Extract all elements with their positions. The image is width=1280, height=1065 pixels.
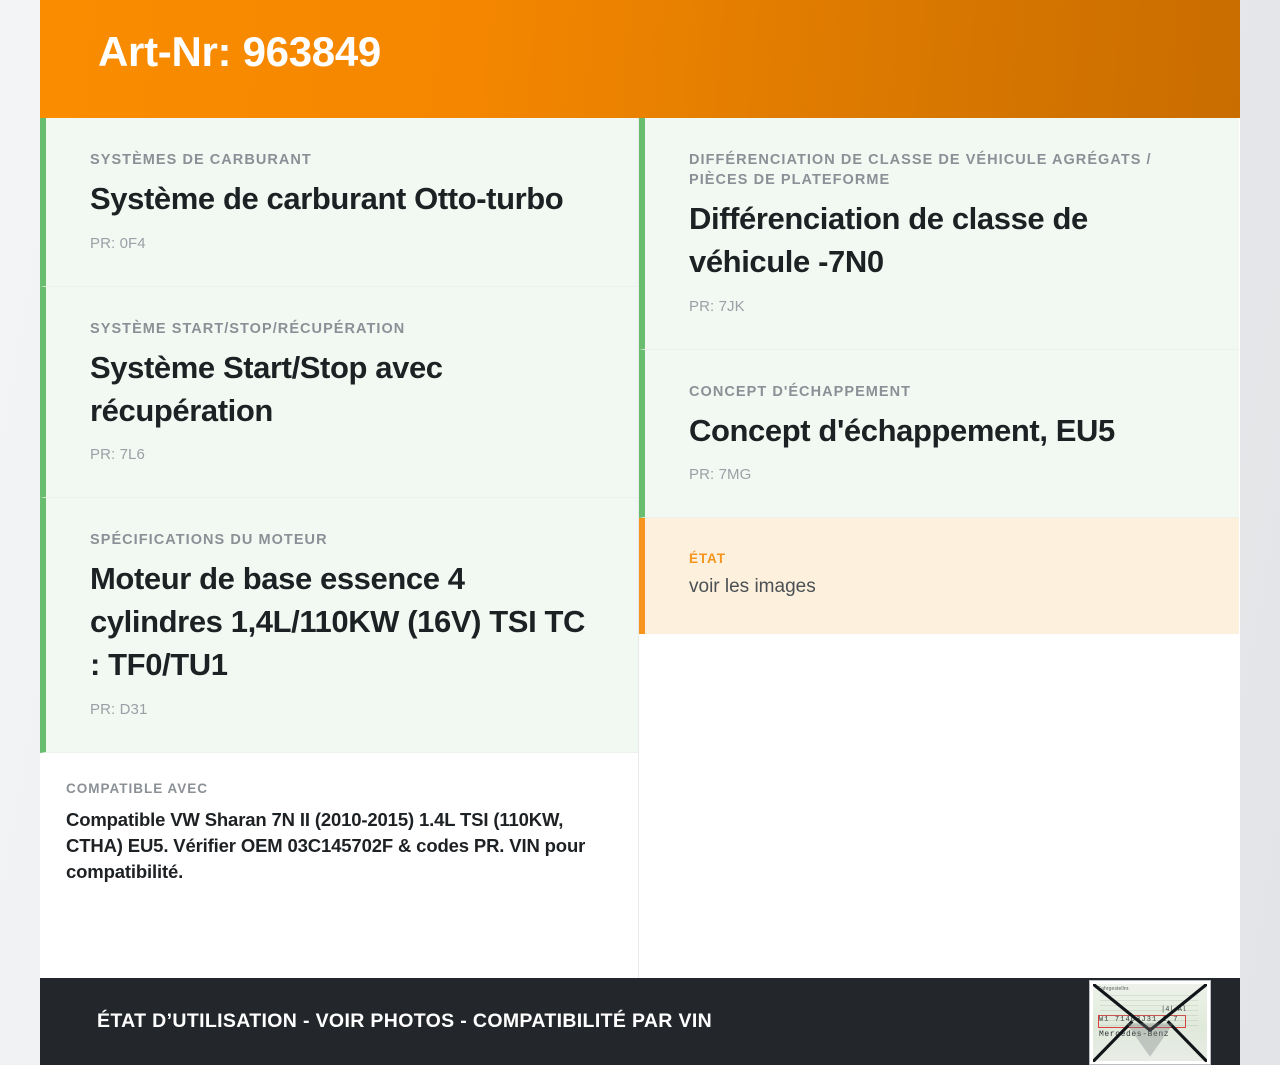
spec-card[interactable]: SYSTÈMES DE CARBURANT Système de carbura… bbox=[40, 118, 638, 287]
vin-field-label: Fahrgestellnr. bbox=[1098, 986, 1130, 992]
compatibility-kicker: COMPATIBLE AVEC bbox=[66, 781, 594, 796]
spec-card-title: Système Start/Stop avec récupération bbox=[90, 347, 594, 433]
footer-notice: ÉTAT D’UTILISATION - VOIR PHOTOS - COMPA… bbox=[97, 1010, 712, 1033]
compatibility-section: COMPATIBLE AVEC Compatible VW Sharan 7N … bbox=[40, 753, 638, 916]
vin-highlight-box bbox=[1098, 1015, 1186, 1028]
spec-card-kicker: SYSTÈME START/STOP/RÉCUPÉRATION bbox=[90, 319, 594, 339]
spec-columns: SYSTÈMES DE CARBURANT Système de carbura… bbox=[40, 118, 1240, 978]
condition-card[interactable]: ÉTAT voir les images bbox=[639, 518, 1239, 633]
article-number-header: Art-Nr: 963849 bbox=[40, 0, 1240, 118]
spec-card-kicker: SPÉCIFICATIONS DU MOTEUR bbox=[90, 530, 594, 550]
document-date-text: |4| Al bbox=[1161, 1006, 1186, 1014]
vehicle-brand-text: Mercedes-Benz bbox=[1099, 1030, 1169, 1039]
spec-card-title: Concept d'échappement, EU5 bbox=[689, 410, 1195, 453]
spec-card[interactable]: SPÉCIFICATIONS DU MOTEUR Moteur de base … bbox=[40, 498, 638, 752]
registration-document-image: Fahrgestellnr. |4| Al W1 71463J31 2 7 Me… bbox=[1093, 984, 1207, 1061]
spec-card-title: Moteur de base essence 4 cylindres 1,4L/… bbox=[90, 558, 594, 686]
page-title: Art-Nr: 963849 bbox=[98, 29, 381, 75]
compatibility-text: Compatible VW Sharan 7N II (2010-2015) 1… bbox=[66, 807, 594, 886]
spec-card-pr-code: PR: 0F4 bbox=[90, 235, 594, 252]
condition-kicker: ÉTAT bbox=[689, 550, 1195, 569]
spec-card[interactable]: DIFFÉRENCIATION DE CLASSE DE VÉHICULE AG… bbox=[639, 118, 1239, 350]
vin-document-thumbnail[interactable]: Fahrgestellnr. |4| Al W1 71463J31 2 7 Me… bbox=[1089, 980, 1211, 1065]
spec-card-kicker: DIFFÉRENCIATION DE CLASSE DE VÉHICULE AG… bbox=[689, 150, 1195, 190]
product-spec-page: Art-Nr: 963849 SYSTÈMES DE CARBURANT Sys… bbox=[0, 0, 1280, 1065]
spec-card-pr-code: PR: 7JK bbox=[689, 298, 1195, 315]
left-column: SYSTÈMES DE CARBURANT Système de carbura… bbox=[40, 118, 639, 978]
spec-card-title: Différenciation de classe de véhicule -7… bbox=[689, 198, 1195, 284]
right-column: DIFFÉRENCIATION DE CLASSE DE VÉHICULE AG… bbox=[639, 118, 1239, 978]
spec-card-pr-code: PR: 7MG bbox=[689, 466, 1195, 483]
spec-card-title: Système de carburant Otto-turbo bbox=[90, 178, 594, 221]
spec-card-pr-code: PR: 7L6 bbox=[90, 446, 594, 463]
footer-bar: ÉTAT D’UTILISATION - VOIR PHOTOS - COMPA… bbox=[40, 978, 1240, 1065]
spec-card[interactable]: SYSTÈME START/STOP/RÉCUPÉRATION Système … bbox=[40, 287, 638, 499]
spec-card-kicker: CONCEPT D'ÉCHAPPEMENT bbox=[689, 382, 1195, 402]
condition-value: voir les images bbox=[689, 574, 1195, 600]
vin-number-text: W1 71463J31 2 7 bbox=[1099, 1016, 1179, 1024]
spec-card[interactable]: CONCEPT D'ÉCHAPPEMENT Concept d'échappem… bbox=[639, 350, 1239, 519]
spec-card-pr-code: PR: D31 bbox=[90, 701, 594, 718]
spec-card-kicker: SYSTÈMES DE CARBURANT bbox=[90, 150, 594, 170]
